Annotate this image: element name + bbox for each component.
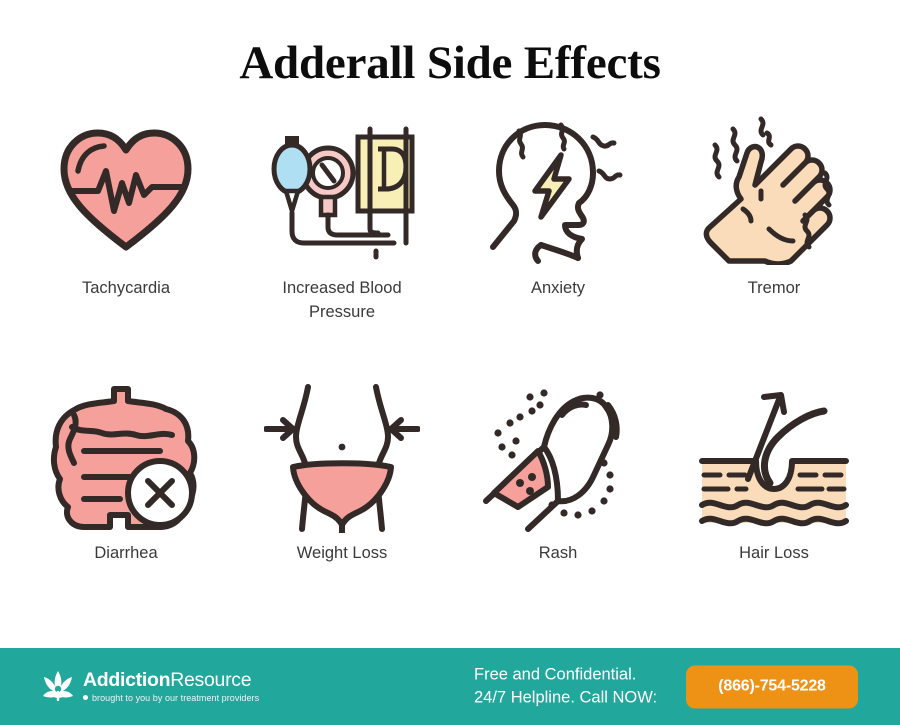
brand-name-bold: Addiction [83,669,170,691]
waist-arrows-icon [234,378,450,538]
brand-tagline: brought to you by our treatment provider… [83,693,259,703]
brand-name: AddictionResource [83,670,259,690]
side-effect-label: Tremor [748,277,801,301]
side-effect-label: Increased Blood Pressure [257,277,427,325]
arm-rash-icon [450,378,666,538]
brand-logo[interactable]: AddictionResource brought to you by our … [42,667,259,706]
shaking-hand-icon [666,108,882,273]
blood-pressure-cuff-icon [234,108,450,273]
side-effect-cell-hair-loss: Hair Loss [666,378,882,648]
side-effect-label: Weight Loss [297,542,388,566]
side-effect-label: Anxiety [531,277,585,301]
call-phone-button[interactable]: (866)-754-5228 [686,665,858,708]
brand-tagline-text: brought to you by our treatment provider… [92,693,259,703]
side-effect-cell-tremor: Tremor [666,108,882,378]
lotus-flower-icon [42,667,74,706]
hair-follicle-icon [666,378,882,538]
side-effect-label: Tachycardia [82,277,170,301]
bullet-dot-icon [83,695,88,700]
side-effect-cell-rash: Rash [450,378,666,648]
side-effect-cell-anxiety: Anxiety [450,108,666,378]
intestines-x-icon [18,378,234,538]
side-effect-cell-diarrhea: Diarrhea [18,378,234,648]
brand-text: AddictionResource brought to you by our … [83,670,259,702]
helpline-line-2: 24/7 Helpline. Call NOW: [474,687,657,710]
helpline-line-1: Free and Confidential. [474,663,657,686]
side-effect-cell-weight-loss: Weight Loss [234,378,450,648]
head-lightning-icon [450,108,666,273]
page-title: Adderall Side Effects [0,0,900,90]
side-effect-cell-tachycardia: Tachycardia [18,108,234,378]
helpline-text: Free and Confidential. 24/7 Helpline. Ca… [474,663,657,710]
infographic-page: Adderall Side Effects Tachycardia [0,0,900,725]
side-effect-label: Rash [539,542,578,566]
side-effect-cell-increased-blood-pressure: Increased Blood Pressure [234,108,450,378]
heart-ekg-icon [18,108,234,273]
brand-name-thin: Resource [170,669,251,691]
side-effect-label: Hair Loss [739,542,809,566]
footer-bar: AddictionResource brought to you by our … [0,648,900,725]
side-effect-label: Diarrhea [94,542,157,566]
side-effects-grid: Tachycardia [0,90,900,648]
